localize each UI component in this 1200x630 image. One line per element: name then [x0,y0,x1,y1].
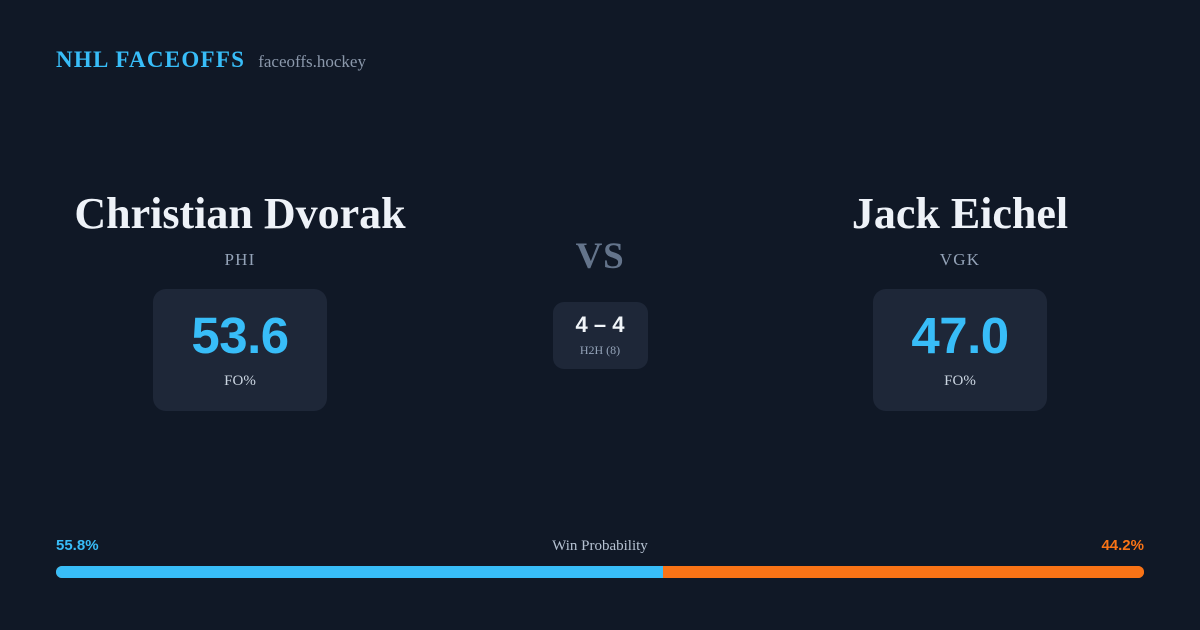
win-probability-bar-right-segment [663,566,1144,578]
player-card-left: Christian Dvorak PHI 53.6 FO% [0,190,480,411]
versus-block: VS 4 – 4 H2H (8) [480,190,720,369]
player-name-right: Jack Eichel [852,190,1068,238]
win-probability-title: Win Probability [552,538,648,555]
faceoff-stat-card-left: 53.6 FO% [153,289,327,411]
player-card-right: Jack Eichel VGK 47.0 FO% [720,190,1200,411]
head-to-head-label: H2H (8) [580,343,620,358]
faceoff-value-right: 47.0 [911,310,1008,361]
faceoff-label-right: FO% [944,373,976,390]
player-team-left: PHI [225,250,256,270]
matchup-section: Christian Dvorak PHI 53.6 FO% VS 4 – 4 H… [0,190,1200,411]
win-probability-right-value: 44.2% [1101,537,1144,554]
faceoff-label-left: FO% [224,373,256,390]
versus-label: VS [576,238,625,275]
player-name-left: Christian Dvorak [74,190,405,238]
head-to-head-score: 4 – 4 [576,314,625,336]
player-team-right: VGK [940,250,980,270]
brand-site-url: faceoffs.hockey [258,52,366,72]
brand-title: NHL FACEOFFS [56,47,245,73]
win-probability-bar [56,566,1144,578]
faceoff-stat-card-right: 47.0 FO% [873,289,1047,411]
header: NHL FACEOFFS faceoffs.hockey [56,47,366,73]
win-probability-labels: 55.8% Win Probability 44.2% [56,537,1144,555]
head-to-head-card: 4 – 4 H2H (8) [553,302,648,369]
win-probability-section: 55.8% Win Probability 44.2% [56,537,1144,578]
faceoff-value-left: 53.6 [191,310,288,361]
win-probability-bar-left-segment [56,566,663,578]
win-probability-left-value: 55.8% [56,537,99,554]
